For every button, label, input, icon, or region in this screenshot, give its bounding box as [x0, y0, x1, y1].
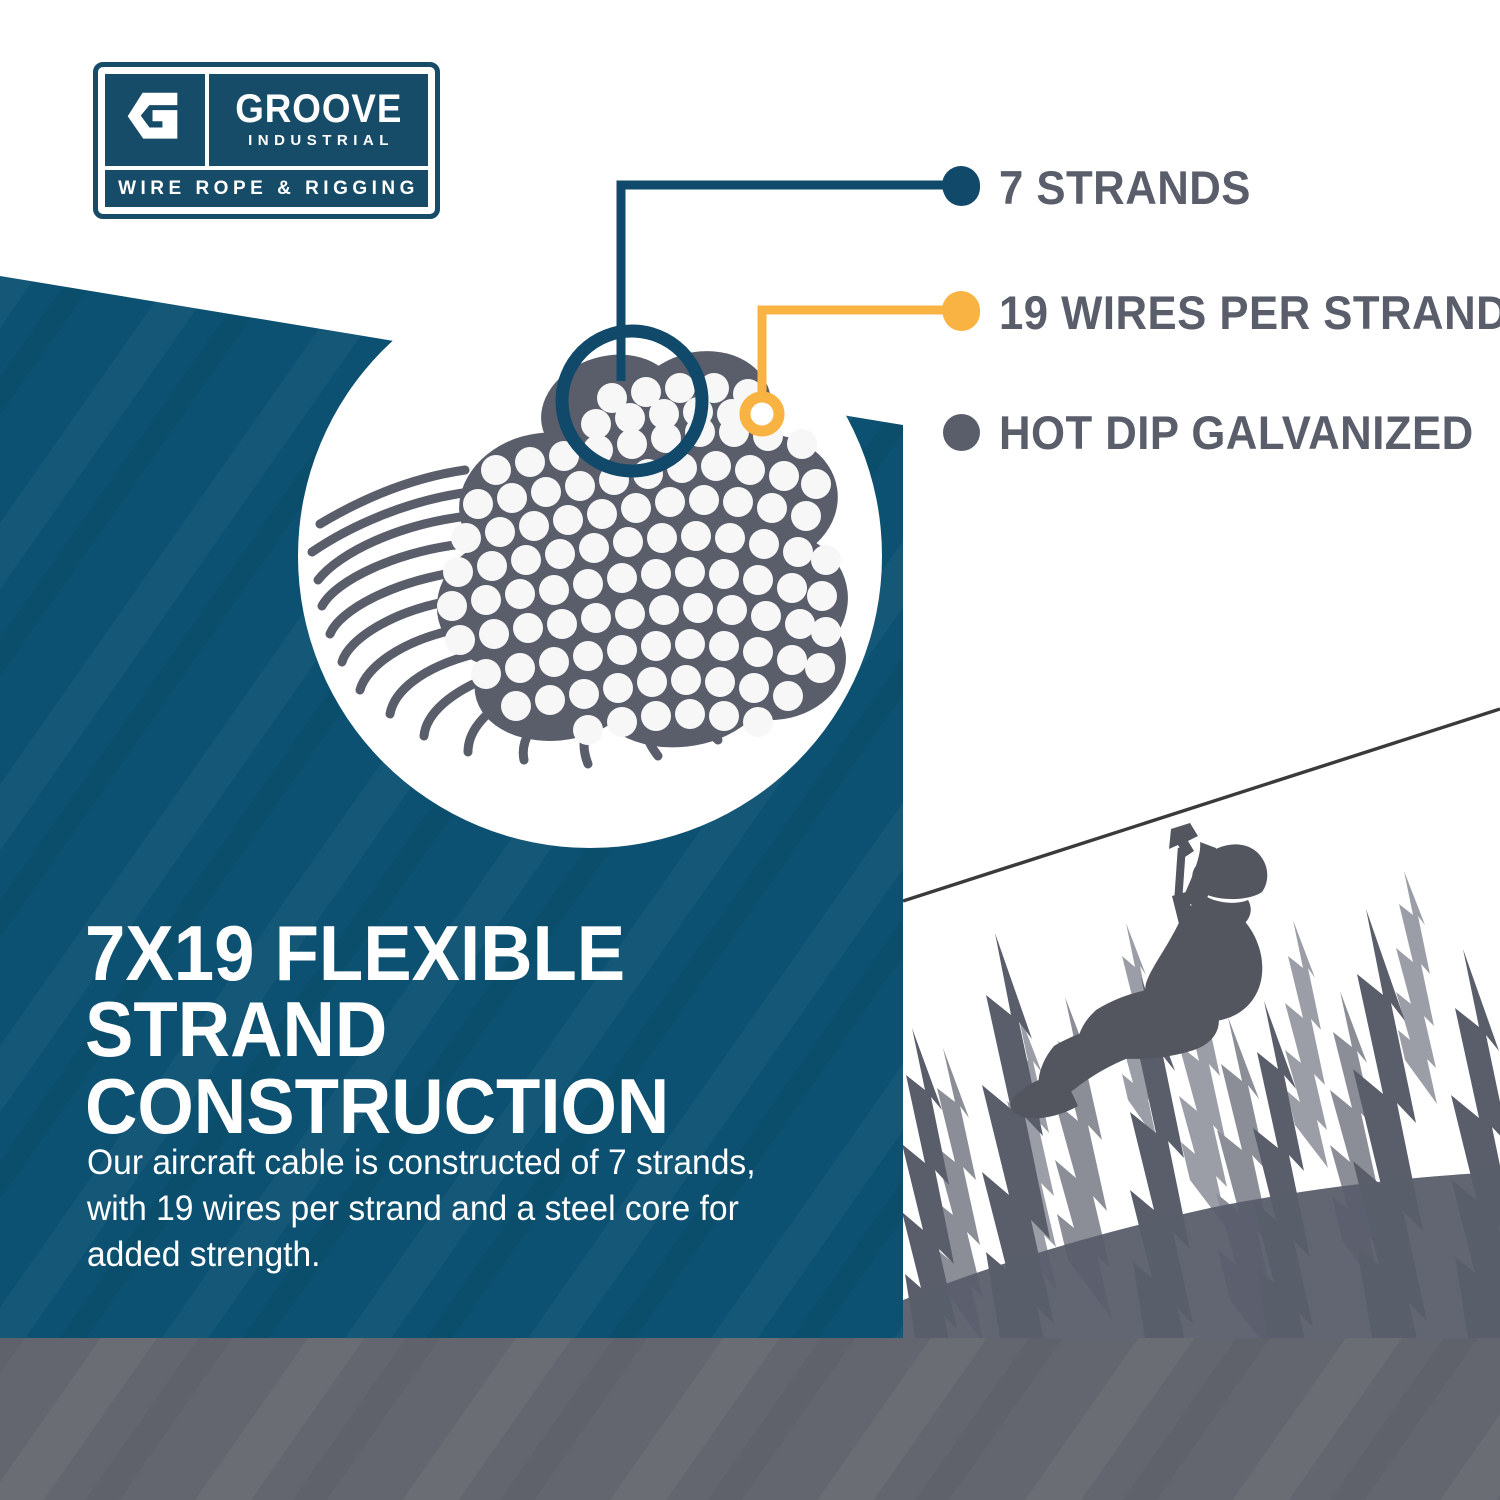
- footer-band: [0, 1338, 1500, 1500]
- infographic-canvas: GROOVE INDUSTRIAL WIRE ROPE & RIGGING 7 …: [0, 0, 1500, 1500]
- headline-line-1: 7X19 FLEXIBLE: [85, 915, 820, 991]
- callout-strands[interactable]: 7 STRANDS: [943, 160, 1270, 215]
- body-description: Our aircraft cable is constructed of 7 s…: [87, 1140, 759, 1279]
- single-wire-ring-icon: [745, 397, 779, 431]
- frayed-wires: [312, 470, 718, 764]
- strand-connector-line: [621, 185, 961, 381]
- tree-layer-back: [1007, 871, 1437, 1291]
- callout-label: HOT DIP GALVANIZED: [999, 405, 1474, 460]
- wire-rope-illustration: [312, 166, 980, 764]
- page-title: 7X19 FLEXIBLE STRAND CONSTRUCTION: [85, 915, 820, 1144]
- callout-dot-icon: [943, 414, 980, 451]
- callout-label: 19 WIRES PER STRAND: [999, 285, 1500, 340]
- rope-strand-lobes: [422, 336, 855, 756]
- tree-layer-mid: [933, 991, 1383, 1361]
- callout-label: 7 STRANDS: [999, 160, 1251, 215]
- tree-layer-front: [902, 909, 1500, 1399]
- strand-magnifier-ring-icon: [562, 331, 702, 471]
- zipline-cable: [903, 709, 1500, 901]
- groove-g-monogram-icon: [105, 74, 205, 166]
- zipline-scene: [902, 600, 1500, 1399]
- wire-dots: [437, 373, 841, 745]
- callout-dot-icon: [943, 169, 980, 206]
- callout-wires-per-strand[interactable]: 19 WIRES PER STRAND: [943, 285, 1500, 340]
- headline-line-2: STRAND CONSTRUCTION: [85, 991, 820, 1144]
- callout-galvanized[interactable]: HOT DIP GALVANIZED: [943, 405, 1500, 460]
- logo-brand-name: GROOVE: [235, 91, 402, 128]
- logo-tagline: WIRE ROPE & RIGGING: [114, 178, 419, 200]
- callout-dot-icon: [943, 294, 980, 331]
- rider-silhouette: [1011, 823, 1267, 1118]
- brand-logo[interactable]: GROOVE INDUSTRIAL WIRE ROPE & RIGGING: [93, 62, 440, 219]
- wire-connector-line: [762, 310, 961, 398]
- logo-brand-subtitle: INDUSTRIAL: [243, 132, 394, 149]
